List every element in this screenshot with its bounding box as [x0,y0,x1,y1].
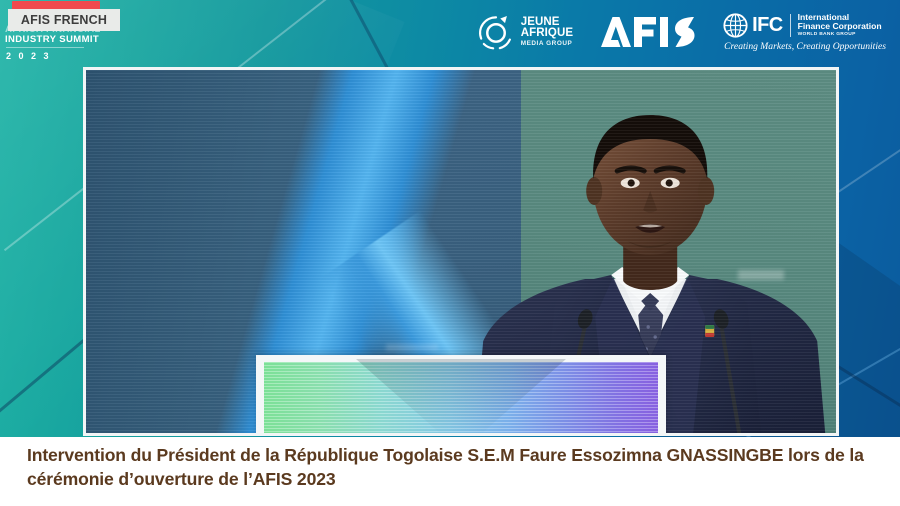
stage-light-flare [386,344,438,351]
ifc-letters: IFC [752,15,782,35]
afis-logo [599,15,697,49]
sponsor-logo-row: JEUNE AFRIQUE MEDIA GROUP [477,8,886,56]
podium [256,355,666,433]
ifc-tagline: Creating Markets, Creating Opportunities [724,41,886,52]
presentation-screenshot: AFRICA FINANCIAL INDUSTRY SUMMIT 2023 AF… [0,0,900,506]
caption-text: Intervention du Président de la Républiq… [27,444,876,491]
podium-led-screen [264,362,658,433]
logo-divider [6,47,84,48]
jeune-afrique-wordmark: JEUNE AFRIQUE MEDIA GROUP [521,17,573,48]
jeune-afrique-circle-mark [477,13,515,51]
jeune-afrique-line2: AFRIQUE [521,28,573,40]
jeune-afrique-line3: MEDIA GROUP [521,41,573,48]
caption-bar: Intervention du Président de la Républiq… [0,437,900,506]
ifc-logo: IFC International Finance Corporation WO… [723,13,886,52]
video-content [86,70,836,433]
event-logo-year: 2023 [6,51,56,61]
afis-french-badge-label: AFIS FRENCH [21,13,107,27]
ifc-globe-icon [723,13,748,38]
ifc-divider [790,14,791,37]
ifc-logo-top: IFC International Finance Corporation WO… [723,13,881,38]
ifc-name-line2: Finance Corporation [798,22,882,31]
ifc-name-line3: WORLD BANK GROUP [798,32,882,37]
afis-french-badge: AFIS FRENCH [8,9,120,31]
afis-wordmark-icon [599,15,697,49]
video-player-frame[interactable] [83,67,839,436]
event-logo-line2: INDUSTRY SUMMIT [5,34,99,45]
ifc-full-name: International Finance Corporation WORLD … [798,13,882,38]
jeune-afrique-logo: JEUNE AFRIQUE MEDIA GROUP [477,13,573,51]
